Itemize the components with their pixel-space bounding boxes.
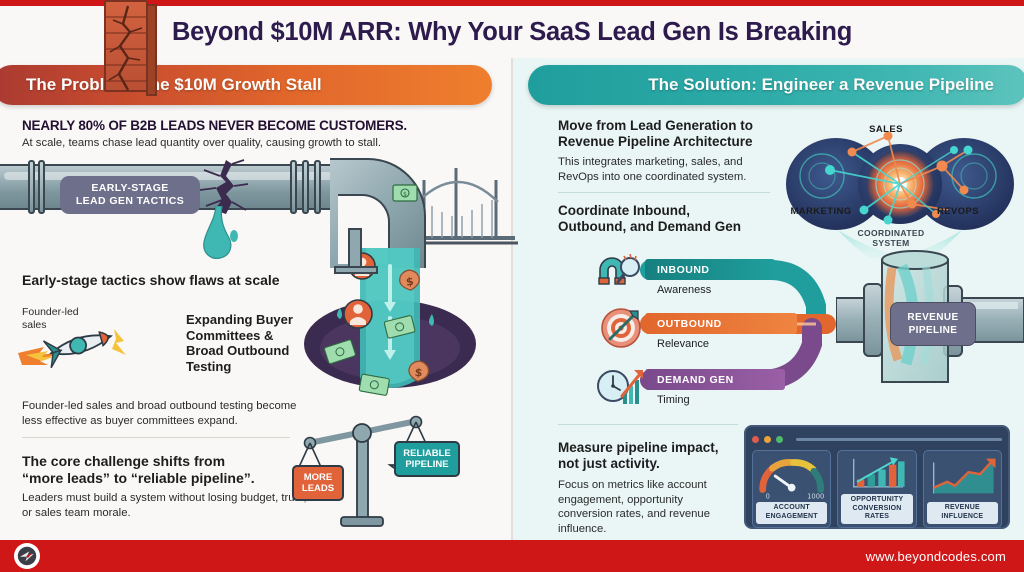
solution-banner: The Solution: Engineer a Revenue Pipelin…: [528, 65, 1024, 105]
dashboard-titlebar-line: [796, 438, 1002, 441]
reliable-pipeline-line2: PIPELINE: [405, 459, 448, 470]
revenue-pipeline-callout: REVENUE PIPELINE: [890, 302, 976, 346]
revenue-pipeline-line1: REVENUE: [907, 311, 958, 324]
channel-sub-outbound: Relevance: [657, 338, 709, 350]
panel-divider: [511, 58, 513, 540]
wall-callout-label: Expanding Buyer Committees & Broad Outbo…: [186, 312, 306, 374]
scale-label-more-leads: MORE LEADS: [292, 465, 344, 501]
pipe-ring-2: [38, 160, 45, 214]
metrics-dashboard: 0 1000 ACCOUNT ENGAGEMENT OPPORTUNITY CO…: [744, 425, 1010, 529]
window-dot-red: [752, 436, 759, 443]
coordinated-line1: COORDINATED: [836, 228, 946, 238]
problem-block3-heading-line2: “more leads” to “reliable pipeline”.: [22, 470, 312, 487]
problem-block2-heading: Early-stage tactics show flaws at scale: [22, 272, 322, 289]
solution-block1-line2: Revenue Pipeline Architecture: [558, 134, 788, 150]
gauge-min-label: 0: [766, 492, 770, 500]
problem-stat-heading: NEARLY 80% OF B2B LEADS NEVER BECOME CUS…: [22, 118, 452, 134]
brick-wall-side: [146, 4, 157, 96]
dashboard-card-opportunity-conversion[interactable]: OPPORTUNITY CONVERSION RATES: [837, 450, 916, 528]
magnet-magnifier-icon: [594, 254, 646, 290]
infographic-root: Beyond $10M ARR: Why Your SaaS Lead Gen …: [0, 0, 1024, 572]
channel-label-demand-gen: DEMAND GEN: [657, 374, 734, 386]
rocket-wall-illustration: [18, 295, 183, 390]
reliable-pipeline-line1: RELIABLE: [403, 448, 451, 459]
dashboard-card-row: 0 1000 ACCOUNT ENGAGEMENT OPPORTUNITY CO…: [752, 450, 1002, 528]
network-label-sales: SALES: [846, 124, 926, 135]
dashboard-card-revenue-influence[interactable]: REVENUE INFLUENCE: [923, 450, 1002, 528]
revenue-pipeline-line2: PIPELINE: [909, 324, 958, 337]
leaking-funnel-hole-illustration: $ $: [300, 248, 480, 408]
dashboard-card-caption-2: OPPORTUNITY CONVERSION RATES: [841, 494, 912, 524]
problem-stat-sub: At scale, teams chase lead quantity over…: [22, 136, 442, 151]
footer-website-url[interactable]: www.beyondcodes.com: [866, 549, 1006, 564]
solution-divider-rule-2: [558, 424, 738, 425]
pipe-support-base: [334, 266, 378, 274]
problem-divider-rule: [22, 437, 290, 438]
svg-text:$: $: [403, 191, 407, 198]
solution-block3-heading: Measure pipeline impact, not just activi…: [558, 440, 738, 472]
window-dot-yellow: [764, 436, 771, 443]
wall-crack-icon: [106, 2, 150, 94]
more-leads-line1: MORE: [304, 472, 333, 483]
solution-block3-sub: Focus on metrics like account engagement…: [558, 478, 738, 537]
problem-block3-sub: Leaders must build a system without losi…: [22, 491, 312, 520]
solution-block3-line2: not just activity.: [558, 456, 738, 472]
solution-block3-line1: Measure pipeline impact,: [558, 440, 738, 456]
pipe-ring-4: [302, 160, 309, 214]
scale-label-reliable-pipeline: RELIABLE PIPELINE: [394, 441, 460, 477]
more-leads-line2: LEADS: [302, 483, 334, 494]
pipe-callout-line1: EARLY-STAGE: [91, 182, 168, 195]
money-bill-icon: $: [392, 184, 418, 202]
target-arrow-icon: [600, 305, 644, 349]
area-line-up-icon: [924, 454, 1001, 500]
svg-text:$: $: [414, 366, 423, 380]
problem-block3-heading-line1: The core challenge shifts from: [22, 453, 312, 470]
page-title: Beyond $10M ARR: Why Your SaaS Lead Gen …: [172, 18, 852, 47]
dashboard-titlebar: [752, 433, 1002, 445]
solution-divider-rule-1: [558, 192, 770, 193]
solution-block2-heading: Coordinate Inbound, Outbound, and Demand…: [558, 203, 788, 235]
problem-block3-heading: The core challenge shifts from “more lea…: [22, 453, 312, 487]
solution-block1-line1: Move from Lead Generation to: [558, 118, 788, 134]
footer-bar: www.beyondcodes.com: [0, 540, 1024, 572]
channel-sub-demand-gen: Timing: [657, 394, 690, 406]
channel-bar-demand-gen: DEMAND GEN: [645, 369, 785, 390]
bridge-icon: [410, 150, 520, 250]
rocket-wall-svg: [18, 295, 183, 390]
solution-block1-heading: Move from Lead Generation to Revenue Pip…: [558, 118, 788, 150]
problem-banner-label: The Problem: The $10M Growth Stall: [26, 75, 322, 95]
window-dot-green: [776, 436, 783, 443]
network-label-marketing: MARKETING: [778, 206, 864, 217]
channel-sub-inbound: Awareness: [657, 284, 711, 296]
solution-block1-sub: This integrates marketing, sales, and Re…: [558, 155, 778, 184]
pipe-callout-line2: LEAD GEN TACTICS: [76, 195, 184, 208]
dashboard-card-caption-1: ACCOUNT ENGAGEMENT: [756, 502, 827, 524]
gauge-max-label: 1000: [807, 492, 824, 500]
solution-block2-line2: Outbound, and Demand Gen: [558, 219, 788, 235]
hole-leak-svg: $ $: [300, 248, 480, 408]
leaking-fluid-icon: [196, 206, 242, 264]
clock-growth-icon: [596, 362, 648, 408]
solution-banner-label: The Solution: Engineer a Revenue Pipelin…: [648, 75, 994, 95]
dashboard-card-caption-3: REVENUE INFLUENCE: [927, 502, 998, 524]
channel-label-inbound: INBOUND: [657, 264, 710, 276]
channel-label-outbound: OUTBOUND: [657, 318, 722, 330]
gauge-icon: 0 1000: [753, 454, 830, 500]
brick-wall-icon: [104, 0, 148, 92]
channel-bar-inbound: INBOUND: [645, 259, 775, 280]
problem-block2-sub: Founder-led sales and broad outbound tes…: [22, 399, 302, 428]
channel-bar-outbound: OUTBOUND: [645, 313, 797, 334]
network-label-revops: REVOPS: [918, 206, 998, 217]
pipe-ring-5: [314, 160, 321, 214]
pipe-callout-label: EARLY-STAGE LEAD GEN TACTICS: [60, 176, 200, 214]
pipe-ring-3: [290, 160, 297, 214]
pipe-support-leg: [348, 228, 362, 268]
problem-banner: The Problem: The $10M Growth Stall: [0, 65, 492, 105]
logo-mark: [17, 546, 37, 566]
bar-chart-up-icon: [838, 454, 915, 492]
beyondcodes-logo-icon[interactable]: [14, 543, 40, 569]
pipe-ring-1: [28, 160, 35, 214]
dashboard-card-account-engagement[interactable]: 0 1000 ACCOUNT ENGAGEMENT: [752, 450, 831, 528]
solution-block2-line1: Coordinate Inbound,: [558, 203, 788, 219]
